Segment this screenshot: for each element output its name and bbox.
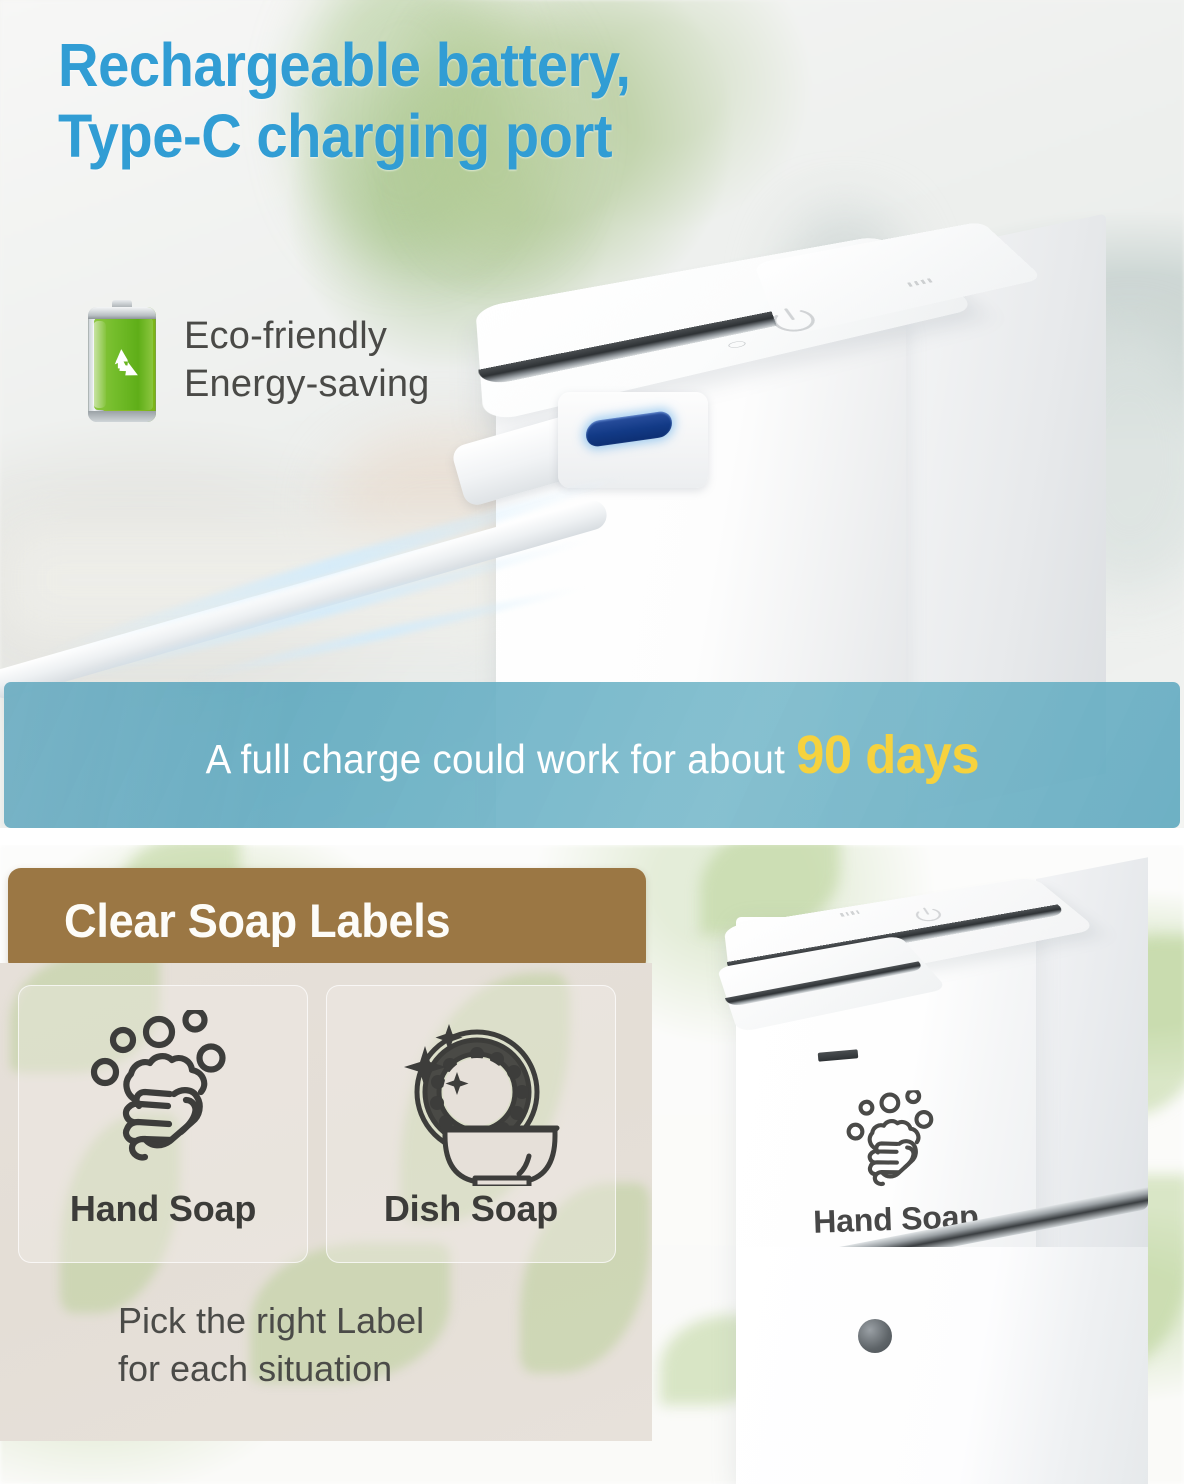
battery-life-text: A full charge could work for about 90 da… bbox=[205, 724, 978, 786]
soap-labels-panel: Hand Soap bbox=[0, 963, 652, 1441]
label-card-dish-soap[interactable]: Dish Soap bbox=[326, 985, 616, 1263]
dispenser-lower-body bbox=[736, 1247, 1148, 1484]
recycle-icon bbox=[100, 345, 144, 389]
clear-soap-labels-section: Hand Soap Clear Soap Labels bbox=[0, 845, 1184, 1484]
battery-bottom-band bbox=[88, 411, 156, 422]
sensor-dot-icon bbox=[858, 1319, 892, 1353]
battery-top-band bbox=[88, 307, 156, 319]
usb-c-port-icon bbox=[558, 392, 708, 488]
eco-feature-row: Eco-friendly Energy-saving bbox=[88, 300, 430, 422]
soap-label-cards: Hand Soap bbox=[18, 985, 616, 1263]
product-hand-soap-label: Hand Soap bbox=[793, 1088, 994, 1242]
product-image-dispenser-bottom: Hand Soap bbox=[700, 855, 1130, 1484]
label-card-caption: Hand Soap bbox=[70, 1188, 256, 1230]
battery-body bbox=[88, 307, 156, 422]
section-title: Clear Soap Labels bbox=[64, 893, 450, 948]
usb-c-port-opening bbox=[586, 410, 672, 448]
pick-label-caption: Pick the right Label for each situation bbox=[118, 1297, 424, 1392]
page-title: Rechargeable battery, Type-C charging po… bbox=[58, 30, 886, 173]
hand-washing-icon bbox=[73, 1010, 253, 1186]
battery-recycle-icon bbox=[88, 300, 156, 422]
battery-life-prefix: A full charge could work for about bbox=[205, 736, 795, 782]
label-card-caption: Dish Soap bbox=[384, 1188, 558, 1230]
rechargeable-battery-section: Rechargeable battery, Type-C charging po… bbox=[0, 0, 1184, 828]
dish-plate-bowl-icon bbox=[381, 1010, 561, 1186]
battery-life-highlight: 90 days bbox=[796, 725, 979, 785]
eco-feature-label: Eco-friendly Energy-saving bbox=[184, 313, 430, 409]
clear-soap-labels-banner: Clear Soap Labels bbox=[8, 868, 646, 973]
battery-life-banner: A full charge could work for about 90 da… bbox=[4, 682, 1180, 828]
hand-washing-icon bbox=[832, 1089, 954, 1205]
label-card-hand-soap[interactable]: Hand Soap bbox=[18, 985, 308, 1263]
